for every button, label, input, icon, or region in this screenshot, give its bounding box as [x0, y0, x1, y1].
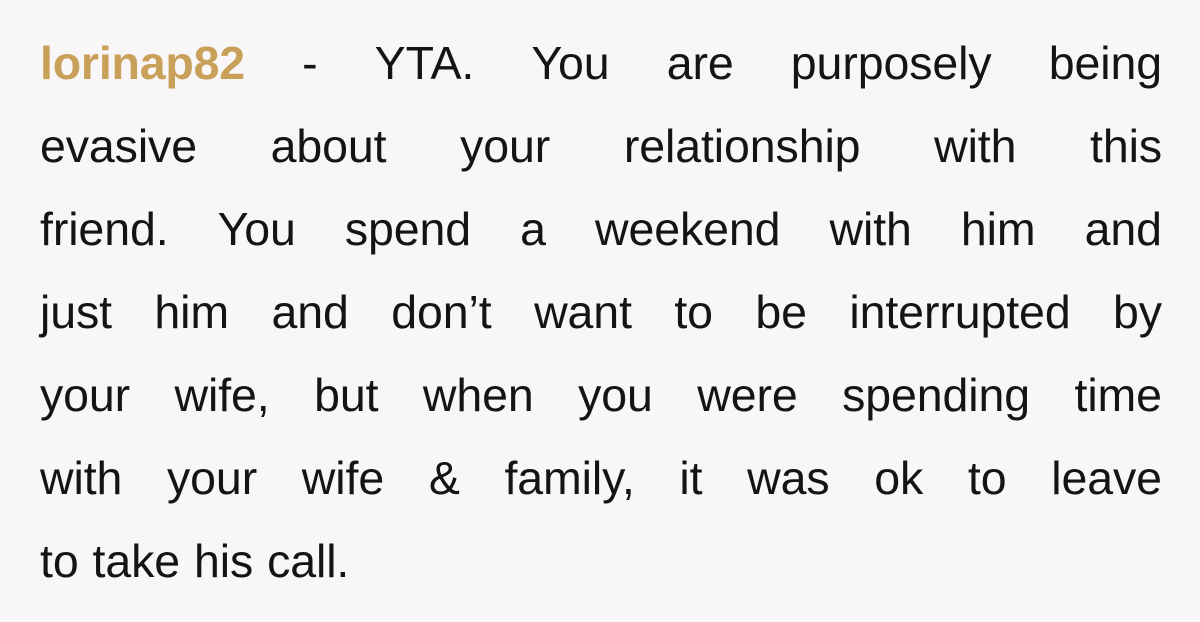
comment-word: evasive — [40, 105, 197, 188]
comment-word: are — [667, 22, 734, 105]
comment-line: friend.Youspendaweekendwithhimand — [40, 188, 1162, 271]
comment-word: but — [314, 354, 378, 437]
comment-word: you — [578, 354, 653, 437]
comment-word: weekend — [595, 188, 780, 271]
comment-word: your — [460, 105, 550, 188]
comment-word: spending — [842, 354, 1030, 437]
comment-word: relationship — [624, 105, 861, 188]
comment-word: it — [679, 437, 702, 520]
comment-word: a — [520, 188, 546, 271]
comment-word: ok — [874, 437, 923, 520]
comment-word: don’t — [391, 271, 491, 354]
comment-word: your — [167, 437, 257, 520]
comment-word: about — [271, 105, 387, 188]
comment-word: just — [40, 271, 112, 354]
comment-word: time — [1075, 354, 1162, 437]
comment-word: were — [697, 354, 797, 437]
comment-line: withyourwife&family,itwasoktoleave — [40, 437, 1162, 520]
author-separator-dash: - — [302, 22, 317, 105]
comment-word: and — [1085, 188, 1162, 271]
comment-line: totakehiscall. — [40, 520, 1162, 603]
comment-word: be — [755, 271, 807, 354]
comment-word: was — [747, 437, 829, 520]
comment-word: with — [934, 105, 1016, 188]
comment-author-username[interactable]: lorinap82 — [40, 22, 245, 105]
comment-word: call. — [267, 520, 349, 603]
comment-word: this — [1090, 105, 1162, 188]
comment-word: wife, — [175, 354, 270, 437]
comment-word: family, — [504, 437, 634, 520]
comment-word: him — [154, 271, 229, 354]
comment-word: You — [218, 188, 296, 271]
comment-word: interrupted — [849, 271, 1070, 354]
comment-word: with — [830, 188, 912, 271]
comment-word: his — [194, 520, 253, 603]
comment-screenshot: lorinap82-YTA.Youarepurposelybeingevasiv… — [0, 0, 1200, 622]
comment-word: wife — [302, 437, 384, 520]
comment-word: to — [968, 437, 1007, 520]
comment-word: YTA. — [375, 22, 475, 105]
comment-word: being — [1049, 22, 1162, 105]
comment-word: friend. — [40, 188, 169, 271]
comment-word: him — [961, 188, 1036, 271]
comment-word: to — [40, 520, 79, 603]
comment-word: to — [674, 271, 713, 354]
comment-word: with — [40, 437, 122, 520]
comment-line: lorinap82-YTA.Youarepurposelybeing — [40, 22, 1162, 105]
comment-word: purposely — [791, 22, 992, 105]
comment-word: & — [429, 437, 460, 520]
comment-word: when — [423, 354, 534, 437]
comment-word: and — [272, 271, 349, 354]
comment-word: spend — [345, 188, 471, 271]
comment-word: by — [1113, 271, 1162, 354]
comment-line: evasiveaboutyourrelationshipwiththis — [40, 105, 1162, 188]
comment-text-block: lorinap82-YTA.Youarepurposelybeingevasiv… — [40, 22, 1162, 603]
comment-line: yourwife,butwhenyouwerespendingtime — [40, 354, 1162, 437]
comment-word: want — [534, 271, 632, 354]
comment-word: You — [531, 22, 609, 105]
comment-word: take — [93, 520, 181, 603]
comment-line: justhimanddon’twanttobeinterruptedby — [40, 271, 1162, 354]
comment-word: leave — [1051, 437, 1162, 520]
comment-word: your — [40, 354, 130, 437]
